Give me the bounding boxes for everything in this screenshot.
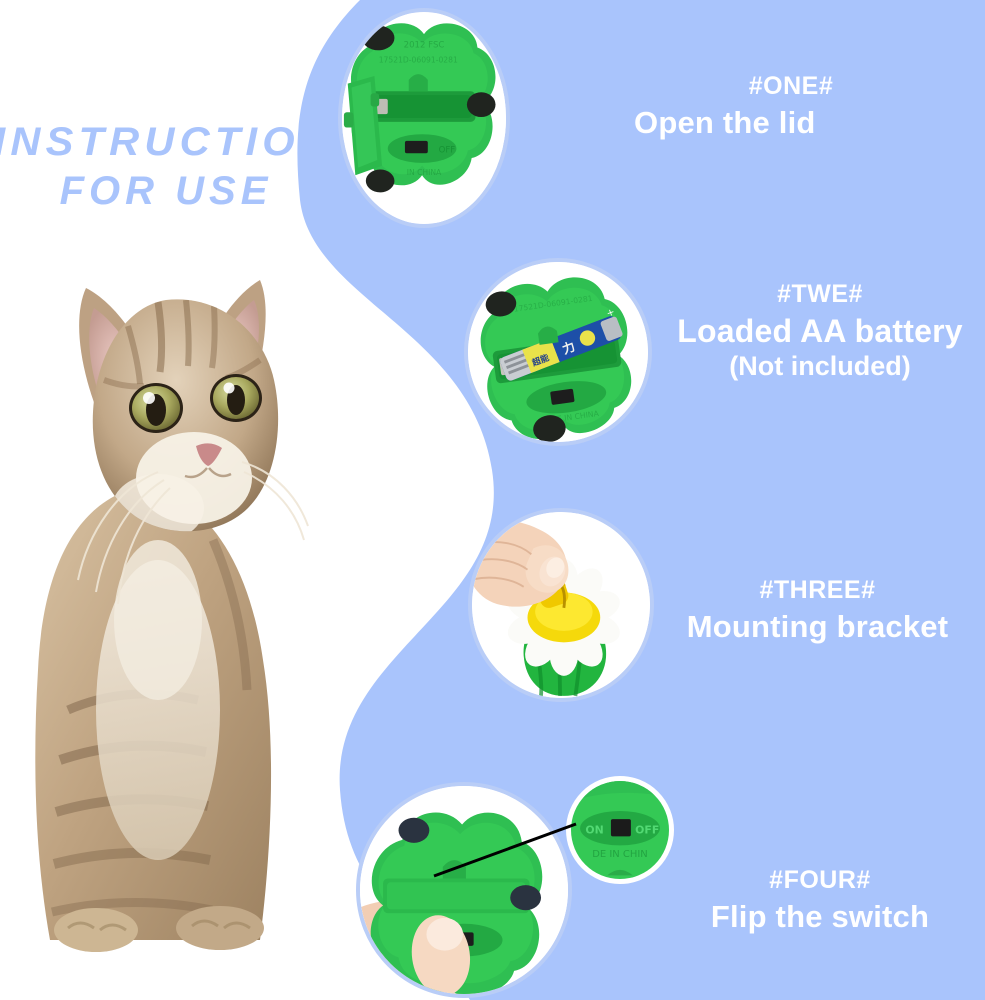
step-3-title: Mounting bracket (650, 610, 985, 645)
page-title: INSTRUCTIONS FOR USE (0, 118, 320, 216)
step-4-switch-detail-photo: ON OFF DE IN CHIN (566, 776, 674, 884)
step-3-caption: #THREE# Mounting bracket (650, 576, 985, 645)
svg-text:2012 FSC: 2012 FSC (404, 40, 445, 50)
step-2-note: (Not included) (655, 351, 985, 381)
step-4-title: Flip the switch (655, 900, 985, 935)
step-2-caption: #TWE# Loaded AA battery (Not included) (655, 280, 985, 381)
step-1-photo: 2012 FSC 17521D-06091-0281 OFF IN CHINA (338, 8, 510, 228)
page-title-line-2: FOR USE (0, 167, 320, 216)
svg-text:17521D-06091-0281: 17521D-06091-0281 (379, 56, 458, 65)
step-1-tag: #ONE# (612, 72, 970, 100)
page-title-line-1: INSTRUCTIONS (0, 118, 326, 167)
svg-text:DE IN CHIN: DE IN CHIN (592, 849, 648, 860)
step-4-tag: #FOUR# (655, 866, 985, 894)
tabby-kitten-photo (8, 240, 338, 960)
step-2-title: Loaded AA battery (655, 314, 985, 349)
step-1-caption: #ONE# Open the lid (620, 72, 970, 141)
step-2-photo: 17521D-06091-0281 力 超能 (464, 258, 652, 446)
step-4-caption: #FOUR# Flip the switch (655, 866, 985, 935)
svg-text:IN CHINA: IN CHINA (407, 168, 442, 177)
step-3-photo (468, 508, 654, 702)
step-3-tag: #THREE# (650, 576, 985, 604)
svg-text:ON: ON (585, 824, 603, 837)
step-1-title: Open the lid (620, 106, 970, 141)
step-4-photo (356, 782, 572, 998)
svg-text:OFF: OFF (439, 145, 456, 155)
svg-text:OFF: OFF (635, 824, 659, 837)
instructions-infographic: INSTRUCTIONS FOR USE (0, 0, 985, 1000)
step-2-tag: #TWE# (655, 280, 985, 308)
